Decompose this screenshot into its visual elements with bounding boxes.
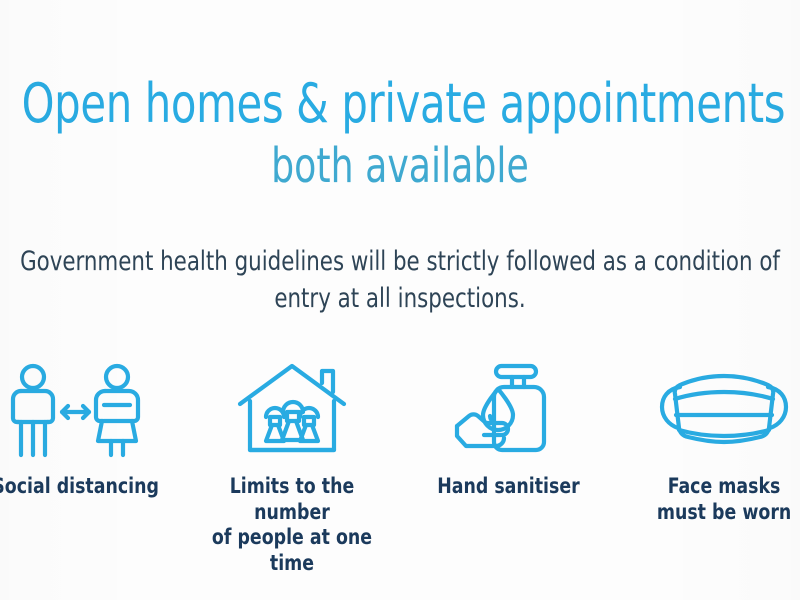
- page-title: Open homes & private appointments: [22, 76, 779, 131]
- list-item-label: Hand sanitiser: [437, 474, 580, 500]
- house-people-limit-icon: [236, 358, 348, 462]
- banner-stage: Open homes & private appointments both a…: [0, 0, 800, 600]
- headline-block: Open homes & private appointments both a…: [0, 76, 800, 191]
- hand-sanitiser-icon: [454, 358, 562, 462]
- list-item: Social distancing: [0, 358, 182, 500]
- list-item: Hand sanitiser: [402, 358, 614, 500]
- social-distancing-icon: [1, 358, 151, 462]
- list-item: Face masks must be worn: [618, 358, 800, 525]
- body-copy-line-2: entry at all inspections.: [13, 280, 787, 317]
- page-subtitle: both available: [30, 141, 769, 191]
- safety-measure-list: Social distancing: [0, 358, 800, 576]
- body-copy-line-1: Government health guidelines will be str…: [13, 243, 787, 280]
- face-mask-icon: [658, 358, 790, 462]
- body-copy: Government health guidelines will be str…: [0, 243, 800, 318]
- list-item: Limits to the number of people at one ti…: [186, 358, 398, 576]
- safety-notice-banner: Open homes & private appointments both a…: [0, 0, 800, 600]
- list-item-label: Social distancing: [0, 474, 159, 500]
- list-item-label: Limits to the number of people at one ti…: [194, 474, 389, 576]
- list-item-label: Face masks must be worn: [657, 474, 791, 525]
